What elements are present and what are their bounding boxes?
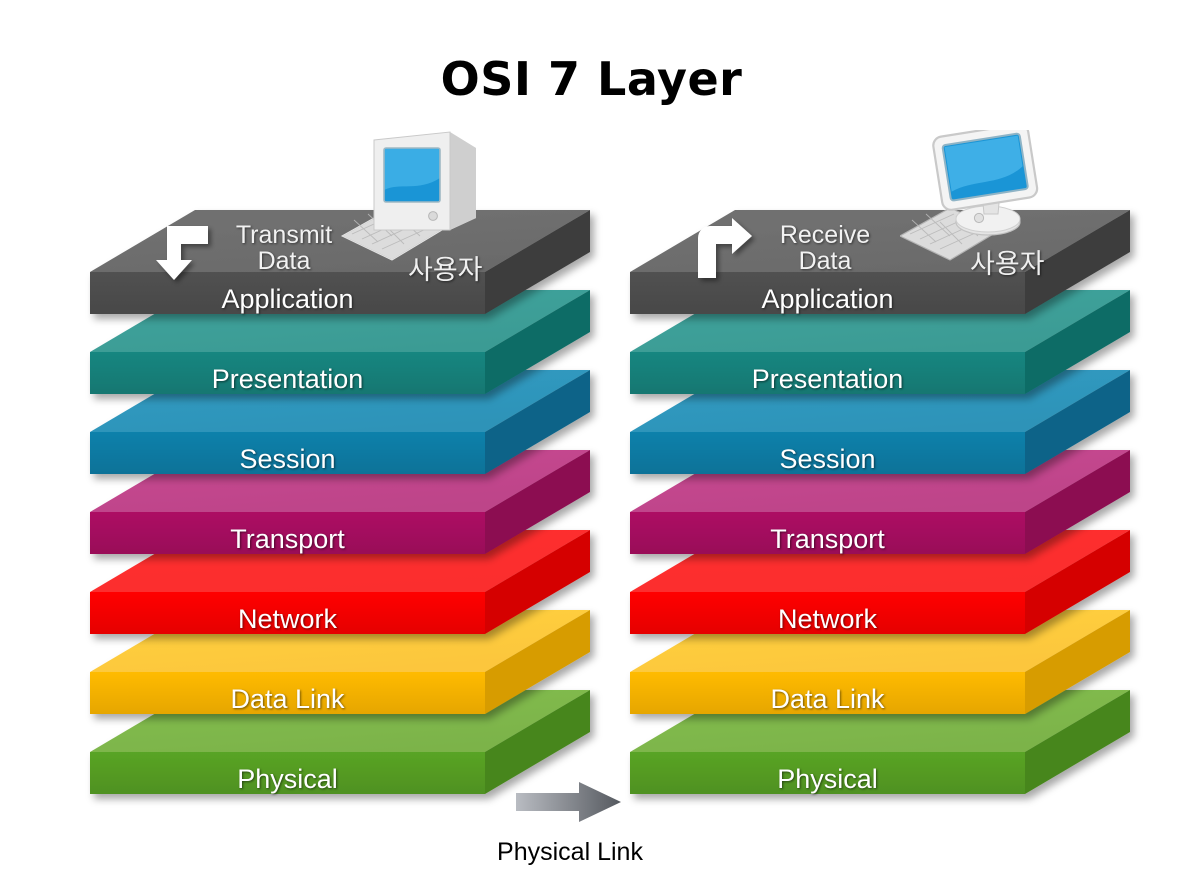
physical-link-label: Physical Link: [430, 838, 710, 867]
osi-layer-application[interactable]: Application TransmitData사용자: [90, 210, 590, 336]
osi-stack-receive: Physical Data Link: [630, 200, 1130, 840]
osi-stack-transmit: Physical Data Link: [90, 200, 590, 840]
page-title: OSI 7 Layer: [0, 52, 1183, 106]
osi-layer-application[interactable]: Application ReceiveData사용자: [630, 210, 1130, 336]
